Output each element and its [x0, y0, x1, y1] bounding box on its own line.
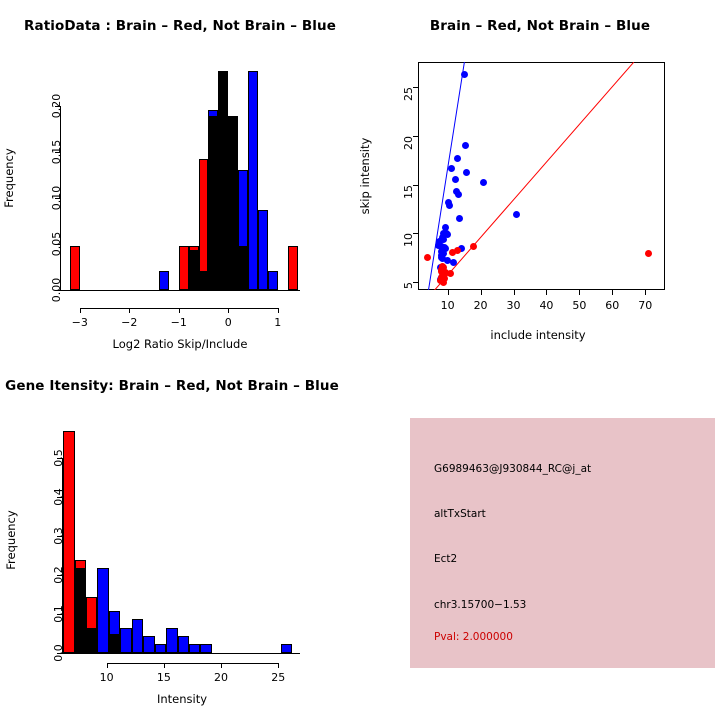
pvalue-text: Pval: 2.000000 [434, 631, 513, 643]
panel-gene-intensity-histogram: Gene Itensity: Brain – Red, Not Brain – … [0, 360, 360, 720]
scatter-point [454, 155, 461, 162]
ratio-histogram-bar [228, 116, 238, 290]
probe-id-text: G6989463@J930844_RC@j_at [434, 463, 591, 475]
gene-xaxis-ticklabel: 25 [256, 671, 300, 684]
locus-text: chr3.15700−1.53 [434, 599, 526, 611]
gene-histogram-bar [109, 611, 120, 653]
probe-info-box: G6989463@J930844_RC@j_at altTxStart Ect2… [410, 418, 715, 668]
gene-xaxis-ticklabel: 10 [85, 671, 129, 684]
scatter-yaxis-ticklabel: 10 [389, 233, 429, 273]
gene-xaxis-tick [278, 663, 279, 668]
figure-canvas: RatioData : Brain – Red, Not Brain – Blu… [0, 0, 720, 720]
ratio-histogram-bar [189, 250, 199, 290]
gene-histogram-bar [281, 644, 292, 653]
gene-histogram-bar [178, 636, 189, 653]
gene-histogram-bar [200, 644, 211, 653]
ratio-histogram-bar [70, 246, 80, 290]
ratio-histogram-bar [199, 271, 209, 290]
gene-histogram-bar [63, 431, 74, 653]
ratio-histogram-bar [288, 246, 298, 290]
scatter-point [454, 247, 461, 254]
scatter-point [446, 202, 453, 209]
gene-xaxis-tick [107, 663, 108, 668]
gene-histogram-bar [189, 644, 200, 653]
ratio-histogram-bar [248, 71, 258, 290]
gene-histogram-bar [155, 644, 166, 653]
ratio-histogram-bar [159, 271, 169, 290]
scatter-xaxis-ticklabel: 70 [625, 299, 665, 312]
gene-histogram-bar [166, 628, 177, 653]
gene-histogram-bar [86, 628, 97, 653]
gene-histogram-bar [75, 568, 86, 653]
gene-histogram-bar [143, 636, 154, 653]
panel-probe-info: G6989463@J930844_RC@j_at altTxStart Ect2… [360, 360, 720, 720]
gene-histogram-bar [97, 568, 108, 653]
scatter-xaxis-tick [645, 290, 646, 295]
gene-histogram-bar [120, 628, 131, 653]
scatter-title: Brain – Red, Not Brain – Blue [360, 18, 720, 34]
gene-xaxis-line [107, 663, 279, 664]
ratio-histogram-bar [208, 110, 218, 290]
event-type-text: altTxStart [434, 508, 486, 520]
scatter-yaxis-title: skip intensity [358, 136, 372, 216]
gene-xaxis-tick [164, 663, 165, 668]
scatter-point [440, 279, 447, 286]
scatter-xaxis-tick [481, 290, 482, 295]
scatter-xaxis-tick [612, 290, 613, 295]
scatter-point [462, 142, 469, 149]
panel-ratio-histogram: RatioData : Brain – Red, Not Brain – Blu… [0, 0, 360, 360]
gene-symbol-text: Ect2 [434, 553, 457, 565]
ratio-histogram-bar [258, 210, 268, 290]
scatter-yaxis-ticklabel: 15 [389, 185, 429, 225]
scatter-xaxis-tick [448, 290, 449, 295]
gene-yaxis-title: Frequency [4, 500, 18, 580]
ratio-histogram-bar [179, 246, 189, 290]
scatter-yaxis-ticklabel: 25 [389, 87, 429, 127]
ratio-histogram-plot-area [0, 0, 360, 360]
ratio-histogram-bar [218, 71, 228, 290]
panel-intensity-scatter: Brain – Red, Not Brain – Blue 1020304050… [360, 0, 720, 360]
ratio-histogram-bar [238, 170, 248, 290]
scatter-xaxis-title: include intensity [398, 328, 678, 342]
gene-xaxis-title: Intensity [42, 692, 322, 706]
gene-histogram-bar [132, 619, 143, 653]
gene-baseline [62, 653, 300, 654]
scatter-yaxis-ticklabel: 20 [389, 136, 429, 176]
gene-xaxis-ticklabel: 20 [199, 671, 243, 684]
scatter-xaxis-tick [579, 290, 580, 295]
scatter-xaxis-tick [514, 290, 515, 295]
gene-xaxis-tick [221, 663, 222, 668]
scatter-point [448, 165, 455, 172]
ratio-histogram-bar [268, 271, 278, 290]
scatter-yaxis-ticklabel: 5 [389, 282, 429, 322]
scatter-xaxis-tick [546, 290, 547, 295]
scatter-point [463, 169, 470, 176]
gene-xaxis-ticklabel: 15 [142, 671, 186, 684]
